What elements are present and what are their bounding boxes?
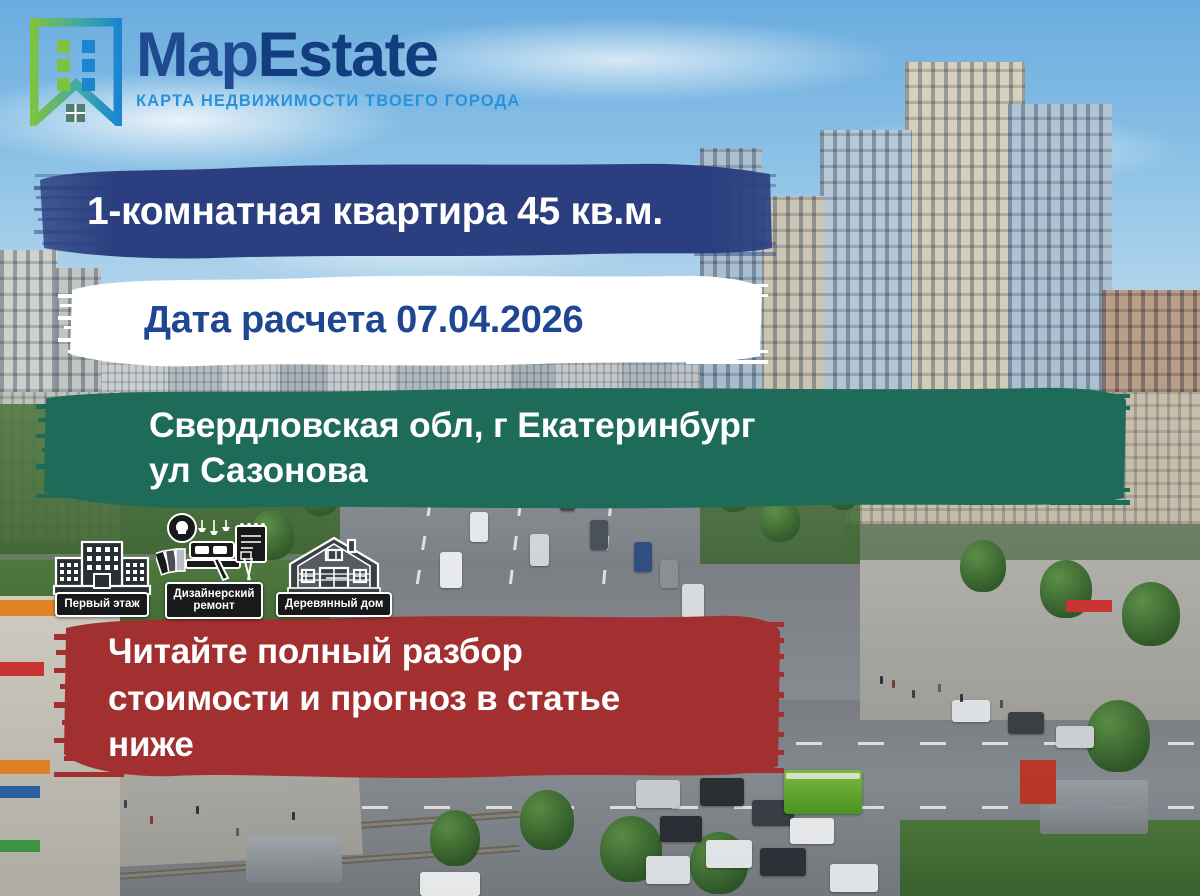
badge-label-first-floor: Первый этаж [55,592,148,617]
cta-line-3: ниже [108,722,784,769]
cta-line-1: Читайте полный разбор [108,629,784,676]
cta-line-2: стоимости и прогноз в статье [108,676,784,723]
date-banner-text: Дата расчета 07.04.2026 [58,299,768,342]
badge-label-designer-renovation: Дизайнерский ремонт [165,582,264,619]
brand-logo[interactable]: MapEstate КАРТА НЕДВИЖИМОСТИ ТВОЕГО ГОРО… [30,18,520,126]
badge-first-floor[interactable]: Первый этаж [52,536,152,617]
cta-banner-text: Читайте полный разбор стоимости и прогно… [54,629,784,770]
feature-badges: Первый этаж [52,512,392,617]
address-banner: Свердловская обл, г Екатеринбург ул Сазо… [36,382,1130,514]
property-banner: 1-комнатная квартира 45 кв.м. [34,156,776,264]
brand-word-map: Map [136,20,258,90]
cta-banner: Читайте полный разбор стоимости и прогно… [54,608,784,790]
address-line-1: Свердловская обл, г Екатеринбург [149,403,1130,448]
design-renovation-icon [156,512,272,588]
brand-tagline: КАРТА НЕДВИЖИМОСТИ ТВОЕГО ГОРОДА [136,92,520,111]
address-banner-text: Свердловская обл, г Екатеринбург ул Сазо… [36,403,1130,493]
address-line-2: ул Сазонова [149,448,1130,493]
brand-word-estate: Estate [258,20,438,90]
wooden-house-icon [282,534,386,598]
bookmark-building-icon [30,18,122,126]
badge-designer-renovation[interactable]: Дизайнерский ремонт [156,512,272,619]
brand-wordmark: MapEstate [136,24,520,87]
badge-wooden-house[interactable]: Деревянный дом [276,534,392,617]
poster-canvas: MapEstate КАРТА НЕДВИЖИМОСТИ ТВОЕГО ГОРО… [0,0,1200,896]
date-banner: Дата расчета 07.04.2026 [58,268,768,372]
apartment-building-icon [52,536,152,598]
badge-label-wooden-house: Деревянный дом [276,592,392,617]
property-banner-text: 1-комнатная квартира 45 кв.м. [34,190,776,234]
